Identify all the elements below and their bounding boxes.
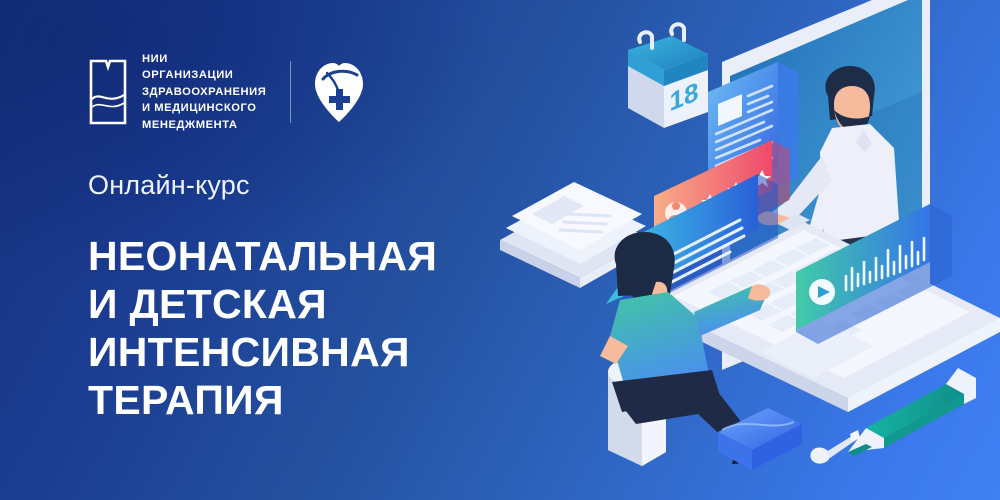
headline-line-4: ТЕРАПИЯ — [88, 377, 518, 425]
page-title: НЕОНАТАЛЬНАЯ И ДЕТСКАЯ ИНТЕНСИВНАЯ ТЕРАП… — [88, 233, 518, 425]
headline-line-3: ИНТЕНСИВНАЯ — [88, 329, 518, 377]
heart-cross-emblem-icon — [313, 61, 365, 123]
org-line-5: МЕНЕДЖМЕНТА — [142, 117, 266, 134]
calendar-icon: 18 — [628, 24, 708, 128]
headline-line-1: НЕОНАТАЛЬНАЯ — [88, 233, 518, 281]
org-line-4: И МЕДИЦИНСКОГО — [142, 100, 266, 117]
org-line-2: ОРГАНИЗАЦИИ — [142, 67, 266, 84]
logo-lockup: НИИ ОРГАНИЗАЦИИ ЗДРАВООХРАНЕНИЯ И МЕДИЦИ… — [88, 52, 518, 132]
org-line-3: ЗДРАВООХРАНЕНИЯ — [142, 84, 266, 101]
kicker-label: Онлайн-курс — [88, 172, 518, 199]
vertical-divider — [290, 61, 291, 123]
org-line-1: НИИ — [142, 51, 266, 68]
banner-text-block: НИИ ОРГАНИЗАЦИИ ЗДРАВООХРАНЕНИЯ И МЕДИЦИ… — [88, 52, 518, 425]
organization-name: НИИ ОРГАНИЗАЦИИ ЗДРАВООХРАНЕНИЯ И МЕДИЦИ… — [142, 51, 266, 134]
headline-line-2: И ДЕТСКАЯ — [88, 281, 518, 329]
course-banner: НИИ ОРГАНИЗАЦИИ ЗДРАВООХРАНЕНИЯ И МЕДИЦИ… — [0, 0, 1000, 500]
open-book-icon — [88, 57, 128, 127]
isometric-illustration: 18 — [460, 0, 1000, 500]
